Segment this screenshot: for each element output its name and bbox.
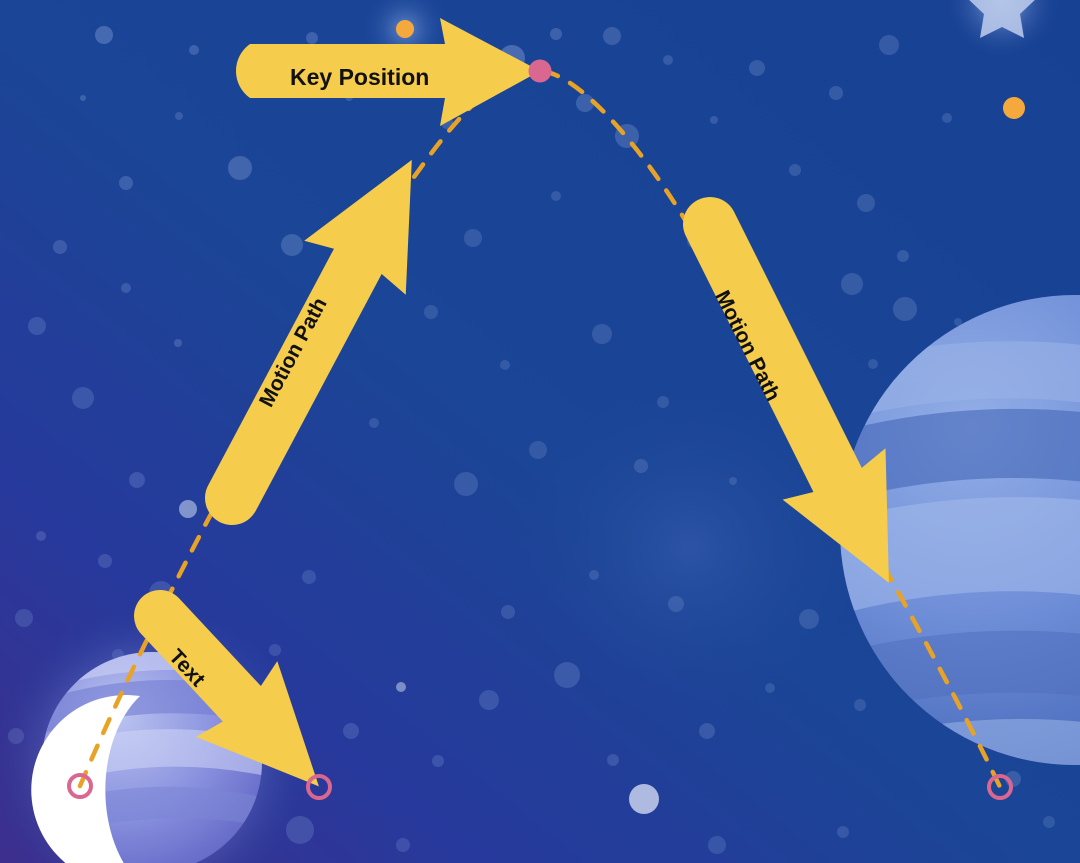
key-position-marker[interactable] [529, 60, 552, 83]
glowing-orange-dot [1003, 97, 1025, 119]
motion-path-canvas: Key Position Motion Path Motion Path Tex… [0, 0, 1080, 863]
space-background [0, 0, 1080, 863]
